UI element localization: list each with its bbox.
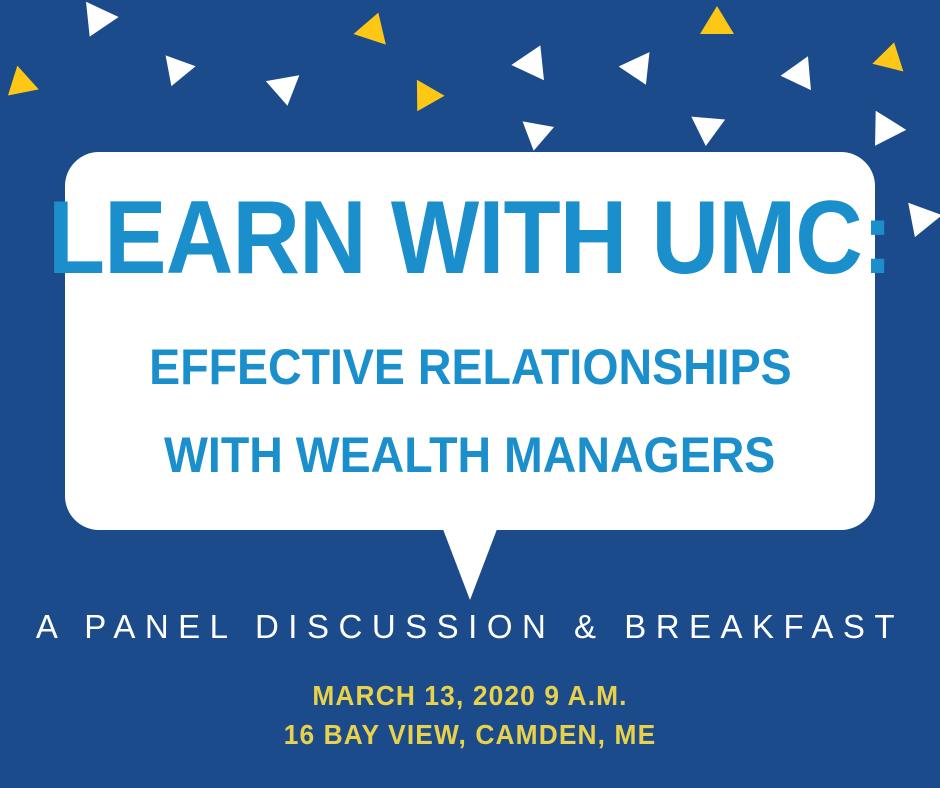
speech-bubble-card: LEARN WITH UMC: EFFECTIVE RELATIONSHIPS … [65, 152, 875, 530]
triangle-white-4-icon [511, 38, 556, 80]
page-title: LEARN WITH UMC: [48, 186, 892, 290]
triangle-yellow-4-icon [0, 66, 39, 108]
triangle-white-8-icon [860, 111, 906, 156]
event-details-block: A PANEL DISCUSSION & BREAKFAST MARCH 13,… [0, 608, 940, 751]
event-address: 16 BAY VIEW, CAMDEN, ME [28, 719, 912, 751]
event-type-label: A PANEL DISCUSSION & BREAKFAST [0, 608, 940, 646]
triangle-white-2-icon [156, 55, 195, 91]
card-text-block: LEARN WITH UMC: EFFECTIVE RELATIONSHIPS … [65, 152, 875, 530]
triangle-white-5-icon [619, 52, 662, 92]
triangle-yellow-2-icon [700, 6, 734, 34]
triangle-white-3-icon [266, 75, 304, 108]
event-date-time: MARCH 13, 2020 9 A.M. [28, 680, 912, 712]
triangle-yellow-5-icon [403, 80, 444, 119]
triangle-yellow-3-icon [872, 39, 909, 72]
triangle-white-9-icon [518, 121, 554, 153]
event-poster: LEARN WITH UMC: EFFECTIVE RELATIONSHIPS … [0, 0, 940, 788]
triangle-white-1-icon [73, 2, 118, 44]
subtitle-line-1: EFFECTIVE RELATIONSHIPS [149, 342, 791, 392]
subtitle-line-2: WITH WEALTH MANAGERS [164, 430, 775, 480]
triangle-white-10-icon [898, 203, 940, 244]
triangle-white-6-icon [779, 56, 811, 92]
triangle-yellow-1-icon [354, 7, 395, 44]
speech-bubble-tail [441, 524, 499, 600]
triangle-white-7-icon [689, 117, 725, 148]
